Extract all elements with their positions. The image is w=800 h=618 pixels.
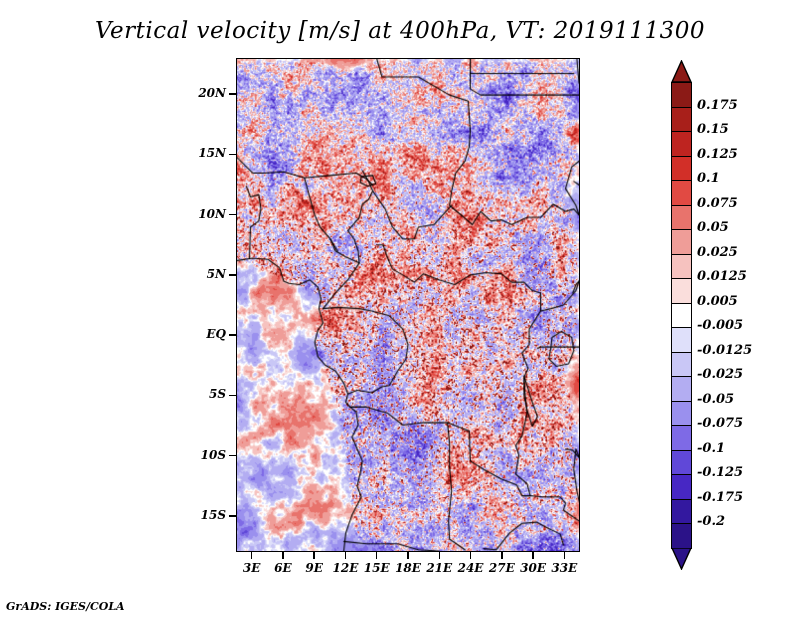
y-axis-label: 10N — [188, 207, 226, 221]
colorbar-tick-label: -0.025 — [697, 367, 743, 382]
country-borders-overlay — [237, 59, 579, 551]
colorbar-swatch — [671, 131, 692, 157]
colorbar-swatch — [671, 107, 692, 133]
colorbar-tick-label: 0.005 — [697, 294, 738, 309]
y-axis-label: 15S — [188, 508, 226, 522]
page-title: Vertical velocity [m/s] at 400hPa, VT: 2… — [0, 18, 800, 44]
y-axis-tick — [229, 93, 236, 95]
colorbar-tick-label: -0.2 — [697, 514, 725, 529]
y-axis-label: 20N — [188, 86, 226, 100]
y-axis-label: 5S — [188, 387, 226, 401]
colorbar-arrow-max — [671, 60, 692, 82]
colorbar-swatch — [671, 229, 692, 255]
colorbar-swatch — [671, 425, 692, 451]
colorbar-swatch — [671, 278, 692, 304]
y-axis-tick — [229, 334, 236, 336]
colorbar-legend: 0.1750.150.1250.10.0750.050.0250.01250.0… — [671, 60, 791, 555]
colorbar-swatch — [671, 401, 692, 427]
colorbar-swatch — [671, 205, 692, 231]
x-axis-tick — [251, 552, 253, 559]
x-axis-tick — [501, 552, 503, 559]
colorbar-tick-label: 0.125 — [697, 147, 738, 162]
figure-root: Vertical velocity [m/s] at 400hPa, VT: 2… — [0, 0, 800, 618]
colorbar-tick-label: -0.125 — [697, 465, 743, 480]
colorbar-swatch — [671, 156, 692, 182]
colorbar-tick-label: 0.075 — [697, 196, 738, 211]
colorbar-arrow-min — [671, 548, 692, 570]
y-axis-tick — [229, 455, 236, 457]
colorbar-tick-label: -0.0125 — [697, 343, 752, 358]
x-axis-tick — [532, 552, 534, 559]
y-axis-tick — [229, 154, 236, 156]
colorbar-tick-label: -0.005 — [697, 318, 743, 333]
x-axis-tick — [470, 552, 472, 559]
x-axis-tick — [345, 552, 347, 559]
y-axis-label: 15N — [188, 146, 226, 160]
colorbar-swatch — [671, 82, 692, 108]
x-axis-tick — [282, 552, 284, 559]
x-axis-tick — [376, 552, 378, 559]
colorbar-swatch — [671, 254, 692, 280]
x-axis-tick — [439, 552, 441, 559]
y-axis-label: EQ — [188, 327, 226, 341]
x-axis-label: 33E — [542, 561, 586, 575]
colorbar-swatch — [671, 303, 692, 329]
colorbar-tick-label: -0.175 — [697, 490, 743, 505]
colorbar-swatch — [671, 327, 692, 353]
colorbar-swatch — [671, 523, 692, 549]
colorbar-swatch — [671, 180, 692, 206]
attribution-footer: GrADS: IGES/COLA — [6, 600, 125, 613]
colorbar-tick-label: 0.0125 — [697, 269, 747, 284]
colorbar-tick-label: 0.05 — [697, 220, 729, 235]
y-axis-tick — [229, 515, 236, 517]
y-axis-tick — [229, 214, 236, 216]
colorbar-swatch — [671, 499, 692, 525]
map-plot-area — [236, 58, 580, 552]
colorbar-swatch — [671, 352, 692, 378]
colorbar-tick-label: 0.15 — [697, 122, 729, 137]
x-axis-tick — [564, 552, 566, 559]
colorbar-tick-label: -0.075 — [697, 416, 743, 431]
y-axis-tick — [229, 395, 236, 397]
y-axis-label: 10S — [188, 448, 226, 462]
colorbar-tick-label: 0.1 — [697, 171, 720, 186]
colorbar-tick-label: -0.1 — [697, 441, 725, 456]
colorbar-tick-label: 0.175 — [697, 98, 738, 113]
colorbar-swatch — [671, 450, 692, 476]
colorbar-swatch — [671, 474, 692, 500]
x-axis-tick — [313, 552, 315, 559]
x-axis-tick — [407, 552, 409, 559]
y-axis-tick — [229, 274, 236, 276]
colorbar-tick-label: 0.025 — [697, 245, 738, 260]
colorbar-swatch — [671, 376, 692, 402]
y-axis-label: 5N — [188, 267, 226, 281]
colorbar-tick-label: -0.05 — [697, 392, 734, 407]
